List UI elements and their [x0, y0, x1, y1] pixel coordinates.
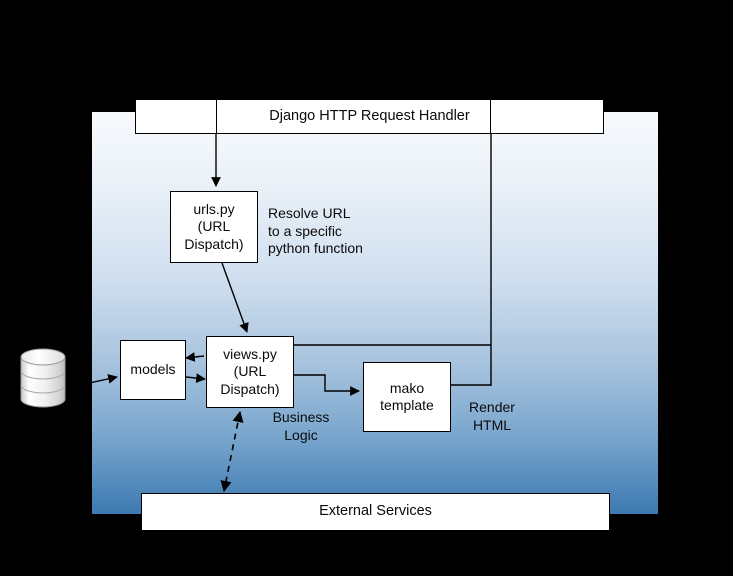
models-label: models — [130, 361, 175, 378]
external-services-label: External Services — [319, 503, 432, 521]
django-bar-divider-left — [216, 99, 217, 134]
mako-template-label: mako template — [380, 380, 434, 414]
resolve-url-annotation: Resolve URL to a specific python functio… — [268, 205, 363, 258]
diagram-canvas: Django HTTP Request Handler urls.py (URL… — [0, 0, 733, 576]
gradient-background-panel — [92, 112, 658, 514]
django-bar-divider-right — [490, 99, 491, 134]
views-py-label: views.py (URL Dispatch) — [220, 346, 279, 397]
urls-py-label: urls.py (URL Dispatch) — [184, 201, 243, 252]
database-cylinder-icon — [18, 348, 68, 408]
models-box[interactable]: models — [120, 340, 186, 400]
business-logic-annotation: Business Logic — [270, 409, 332, 444]
mako-template-box[interactable]: mako template — [363, 362, 451, 432]
external-services-box[interactable]: External Services — [141, 493, 610, 531]
django-bar-label: Django HTTP Request Handler — [269, 108, 469, 126]
render-html-annotation: Render HTML — [462, 399, 522, 434]
django-http-request-handler-box[interactable]: Django HTTP Request Handler — [135, 99, 604, 134]
urls-py-box[interactable]: urls.py (URL Dispatch) — [170, 191, 258, 263]
views-py-box[interactable]: views.py (URL Dispatch) — [206, 336, 294, 408]
